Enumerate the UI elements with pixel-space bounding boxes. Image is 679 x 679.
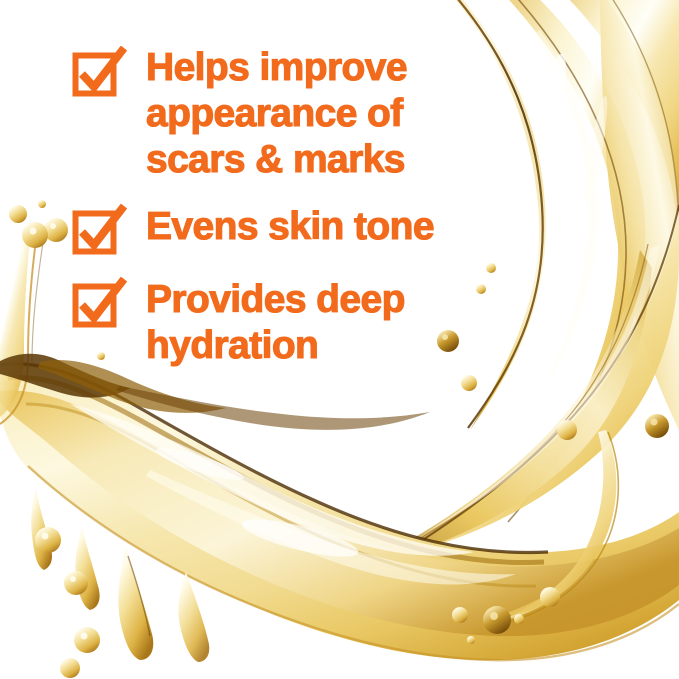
benefit-item-scars-marks: Helps improve appearance of scars & mark… <box>72 44 492 183</box>
marketing-graphic-canvas: Helps improve appearance of scars & mark… <box>0 0 679 679</box>
checked-checkbox-icon <box>72 46 128 98</box>
benefits-list: Helps improve appearance of scars & mark… <box>72 44 492 369</box>
benefit-label: Provides deep hydration <box>146 276 405 369</box>
benefit-item-hydration: Provides deep hydration <box>72 276 492 369</box>
oil-arc-bottom-right <box>498 430 618 624</box>
benefit-label: Helps improve appearance of scars & mark… <box>146 44 407 183</box>
oil-wave-main <box>0 364 679 660</box>
oil-drips-bottom-left <box>31 488 209 662</box>
benefit-label: Evens skin tone <box>146 203 434 250</box>
checked-checkbox-icon <box>72 277 128 329</box>
benefit-item-skin-tone: Evens skin tone <box>72 203 492 256</box>
checked-checkbox-icon <box>72 204 128 256</box>
